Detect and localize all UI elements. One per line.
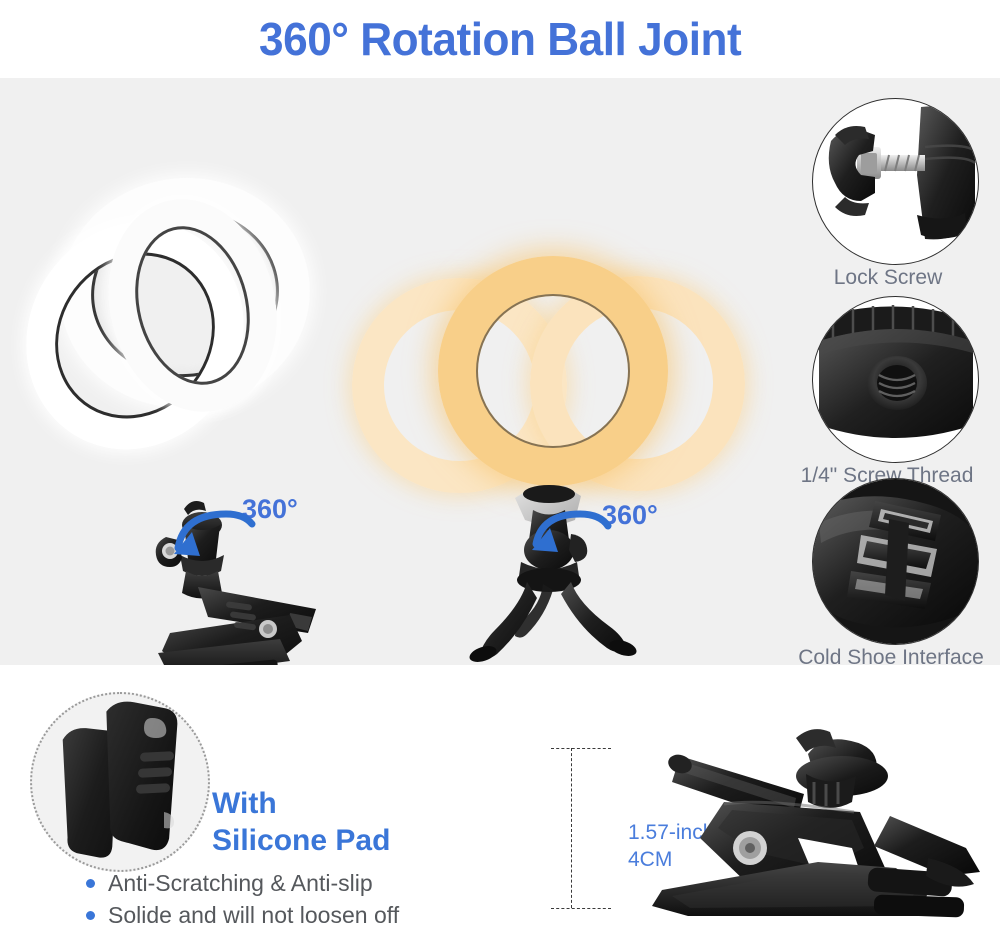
silicone-headline-line2: Silicone Pad xyxy=(212,823,390,860)
callout-caption: Lock Screw xyxy=(788,266,988,290)
lock-screw-icon xyxy=(812,98,979,265)
top-panel: 360° xyxy=(0,78,1000,665)
product-infographic: 360° Rotation Ball Joint xyxy=(0,0,1000,927)
measure-tick-top xyxy=(551,748,611,749)
curved-rotation-arrow-icon xyxy=(526,504,618,558)
page-title: 360° Rotation Ball Joint xyxy=(259,16,741,62)
rotation-badge-tripod: 360° xyxy=(530,502,658,531)
curved-rotation-arrow-icon xyxy=(170,504,256,562)
list-item: Anti-Scratching & Anti-slip xyxy=(82,868,399,900)
measure-tick-bottom xyxy=(551,908,611,909)
warm-ring-light-cluster xyxy=(0,78,760,508)
callout-cold-shoe: Cold Shoe Interface xyxy=(812,478,1000,668)
silicone-headline-line1: With xyxy=(212,786,390,823)
callout-screw-thread: 1/4" Screw Thread xyxy=(812,296,1000,486)
silicone-headline: With Silicone Pad xyxy=(212,786,390,859)
list-item: Solide and will not loosen off xyxy=(82,900,399,927)
callout-lock-screw: Lock Screw xyxy=(812,98,1000,288)
spring-clamp-icon xyxy=(628,720,1000,927)
screw-thread-icon xyxy=(812,296,979,463)
silicone-pad-icon xyxy=(30,692,210,872)
cold-shoe-icon xyxy=(812,478,979,645)
measure-dashed-line xyxy=(571,748,572,908)
silicone-bullet-list: Anti-Scratching & Anti-slip Solide and w… xyxy=(82,868,399,927)
ring-light-ring-center xyxy=(438,256,668,486)
header-banner: 360° Rotation Ball Joint xyxy=(0,0,1000,78)
